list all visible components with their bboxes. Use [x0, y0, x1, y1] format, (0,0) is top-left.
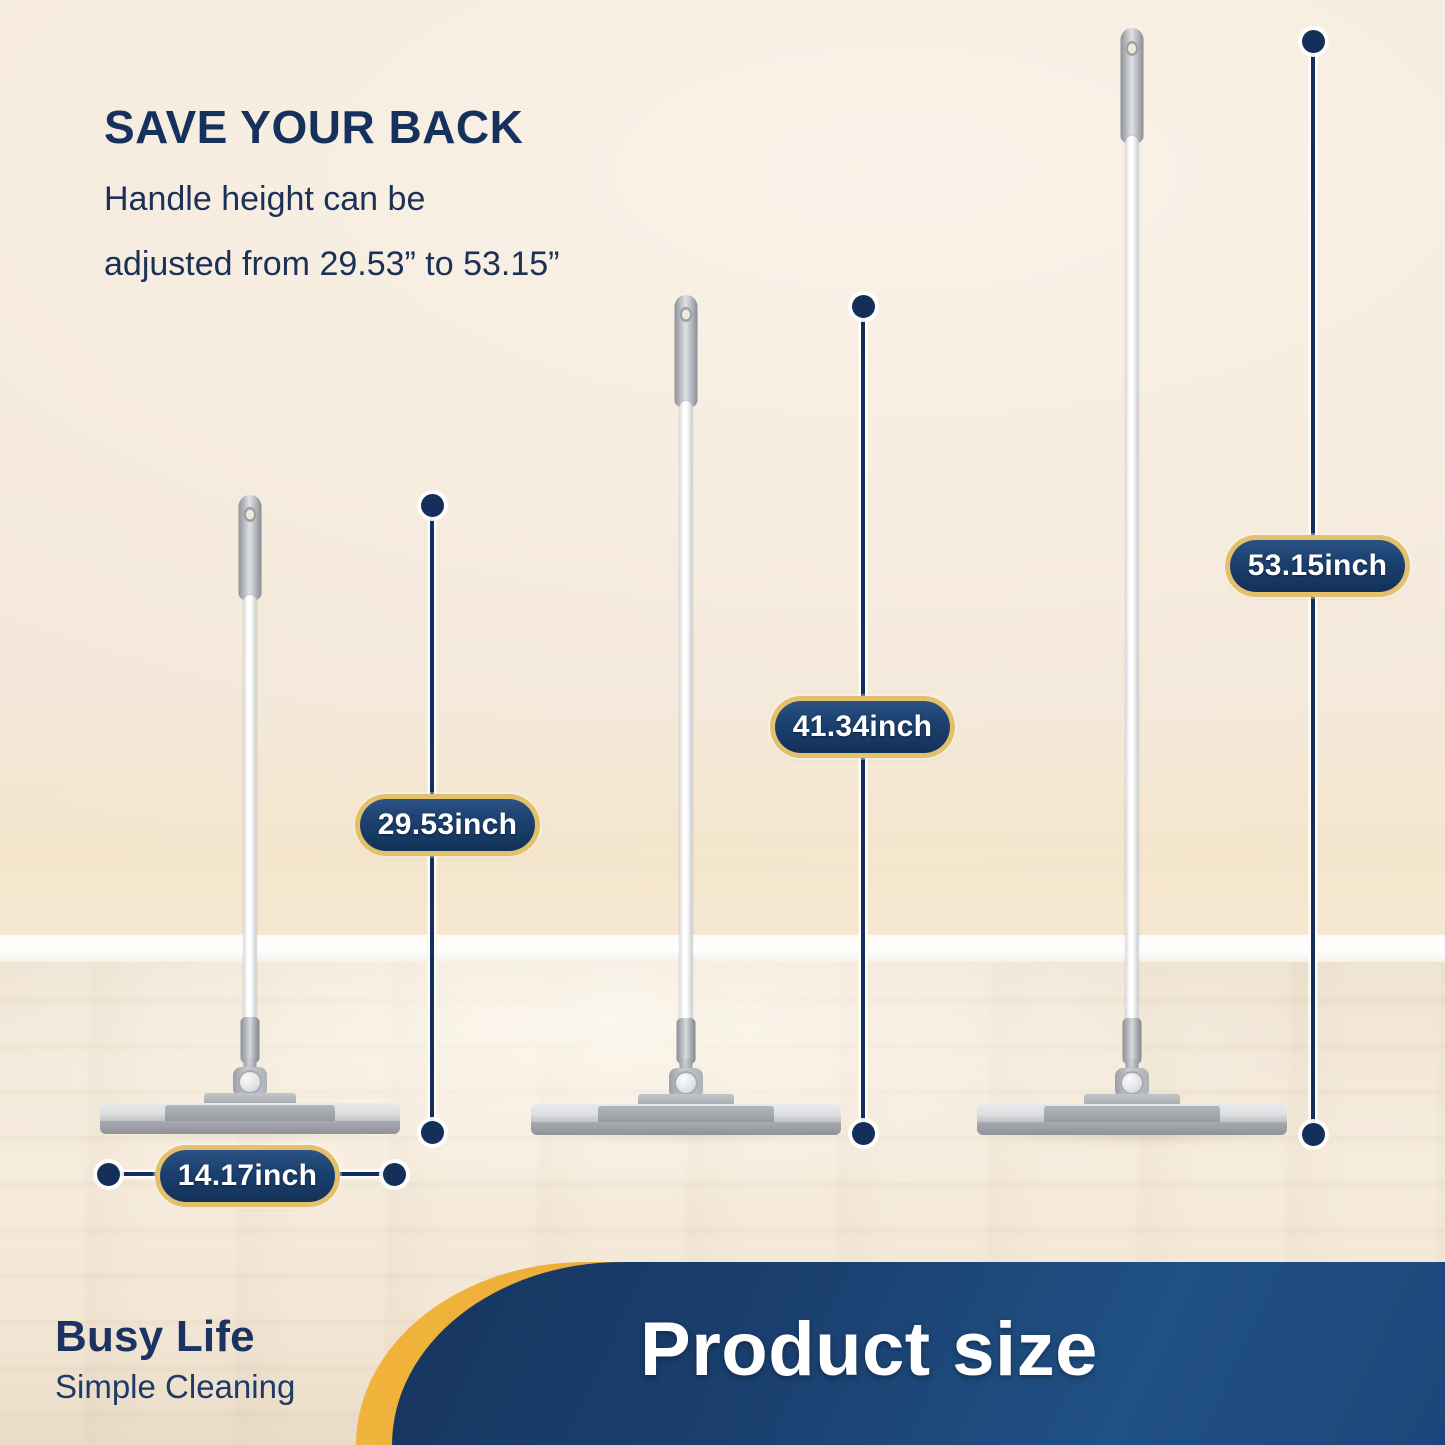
- mop-short: [150, 495, 350, 1135]
- dimension-dot-medium-top: [852, 295, 875, 318]
- dimension-dot-tall-bottom: [1302, 1123, 1325, 1146]
- mop-medium-hang-hole-icon: [680, 307, 693, 322]
- mop-short-hang-hole-icon: [244, 507, 257, 522]
- mop-medium-pivot-cap-icon: [674, 1071, 698, 1095]
- dimension-dot-head-width-left: [97, 1163, 120, 1186]
- mop-medium: [586, 295, 786, 1140]
- brand-tagline: Simple Cleaning: [55, 1368, 295, 1406]
- ribbon-title: Product size: [640, 1306, 1098, 1393]
- mop-tall-pole: [1126, 136, 1139, 1026]
- mop-tall: [1032, 28, 1232, 1143]
- mop-tall-collar: [1123, 1018, 1142, 1064]
- mop-short-pivot-cap-icon: [238, 1070, 262, 1094]
- mop-medium-pole: [680, 401, 693, 1026]
- product-size-infographic: SAVE YOUR BACK Handle height can be adju…: [0, 0, 1445, 1445]
- badge-head-width: 14.17inch: [160, 1150, 335, 1202]
- dimension-dot-head-width-right: [383, 1163, 406, 1186]
- brand-name: Busy Life: [55, 1312, 255, 1362]
- dimension-dot-short-bottom: [421, 1121, 444, 1144]
- mop-tall-hang-hole-icon: [1126, 41, 1139, 56]
- mop-short-blade-base: [100, 1121, 400, 1134]
- dimension-dot-short-top: [421, 494, 444, 517]
- mop-medium-collar: [677, 1018, 696, 1064]
- mop-tall-blade-base: [977, 1122, 1287, 1135]
- page-title: SAVE YOUR BACK: [104, 100, 523, 154]
- mop-medium-blade-base: [531, 1122, 841, 1135]
- badge-medium-height: 41.34inch: [775, 701, 950, 753]
- mop-short-pole: [244, 595, 257, 1025]
- dimension-dot-tall-top: [1302, 30, 1325, 53]
- dimension-dot-medium-bottom: [852, 1122, 875, 1145]
- subtitle-line-1: Handle height can be: [104, 180, 425, 219]
- mop-short-collar: [241, 1017, 260, 1063]
- mop-tall-pivot-cap-icon: [1120, 1071, 1144, 1095]
- badge-short-height: 29.53inch: [360, 799, 535, 851]
- badge-tall-height: 53.15inch: [1230, 540, 1405, 592]
- subtitle-line-2: adjusted from 29.53” to 53.15”: [104, 245, 560, 284]
